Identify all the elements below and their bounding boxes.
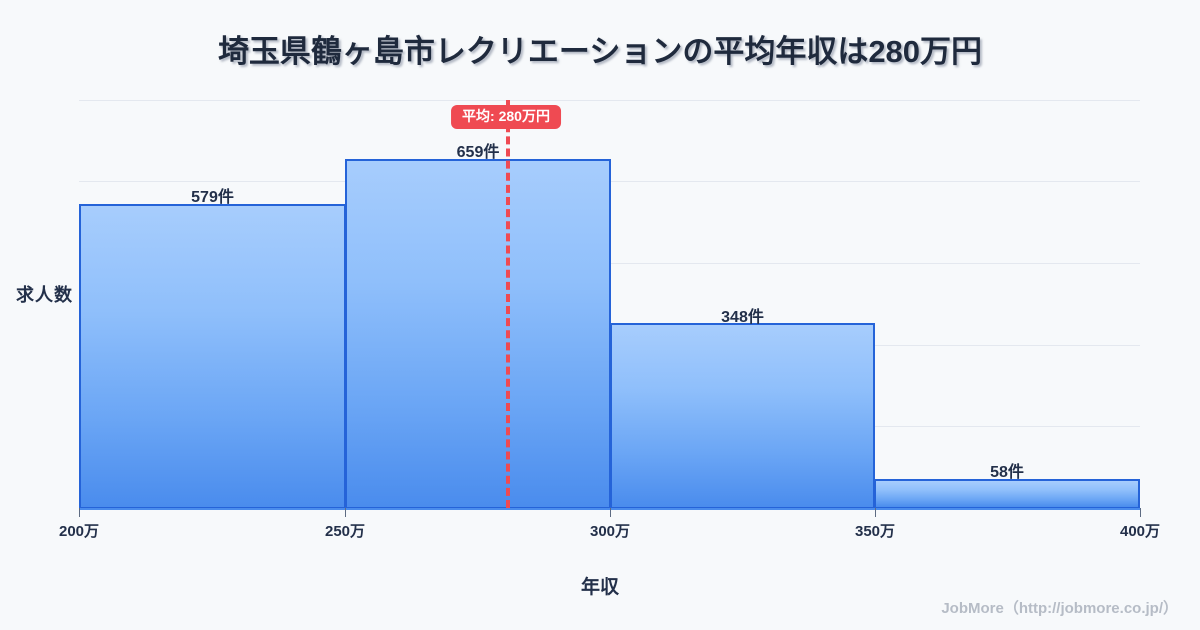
x-tick-mark (875, 508, 876, 517)
x-tick-label: 400万 (1120, 520, 1160, 541)
bar-bin-1[interactable] (79, 204, 346, 509)
bar-value-label: 58件 (874, 458, 1140, 482)
x-tick-mark (345, 508, 346, 517)
footer-credit: JobMore（http://jobmore.co.jp/） (941, 597, 1178, 618)
bar-bin-4[interactable] (874, 479, 1140, 509)
chart-title: 埼玉県鶴ヶ島市レクリエーションの平均年収は280万円 (0, 26, 1200, 71)
gridline (79, 100, 1140, 101)
bar-bin-2[interactable] (345, 159, 611, 509)
y-axis-title: 求人数 (16, 281, 73, 307)
x-tick-label: 300万 (590, 520, 630, 541)
x-tick-mark (1140, 508, 1141, 517)
x-tick-label: 250万 (325, 520, 365, 541)
bar-value-label: 579件 (79, 183, 346, 207)
x-tick-mark (610, 508, 611, 517)
average-badge: 平均: 280万円 (451, 105, 561, 129)
x-axis-title: 年収 (0, 572, 1200, 599)
chart-figure: 埼玉県鶴ヶ島市レクリエーションの平均年収は280万円 579件 659件 348… (0, 0, 1200, 630)
x-tick-label: 200万 (59, 520, 99, 541)
average-dashed-line (506, 100, 510, 508)
bar-value-label: 348件 (610, 303, 875, 327)
bar-bin-3[interactable] (610, 323, 875, 509)
x-tick-mark (79, 508, 80, 517)
x-tick-label: 350万 (855, 520, 895, 541)
bar-value-label: 659件 (345, 138, 611, 162)
